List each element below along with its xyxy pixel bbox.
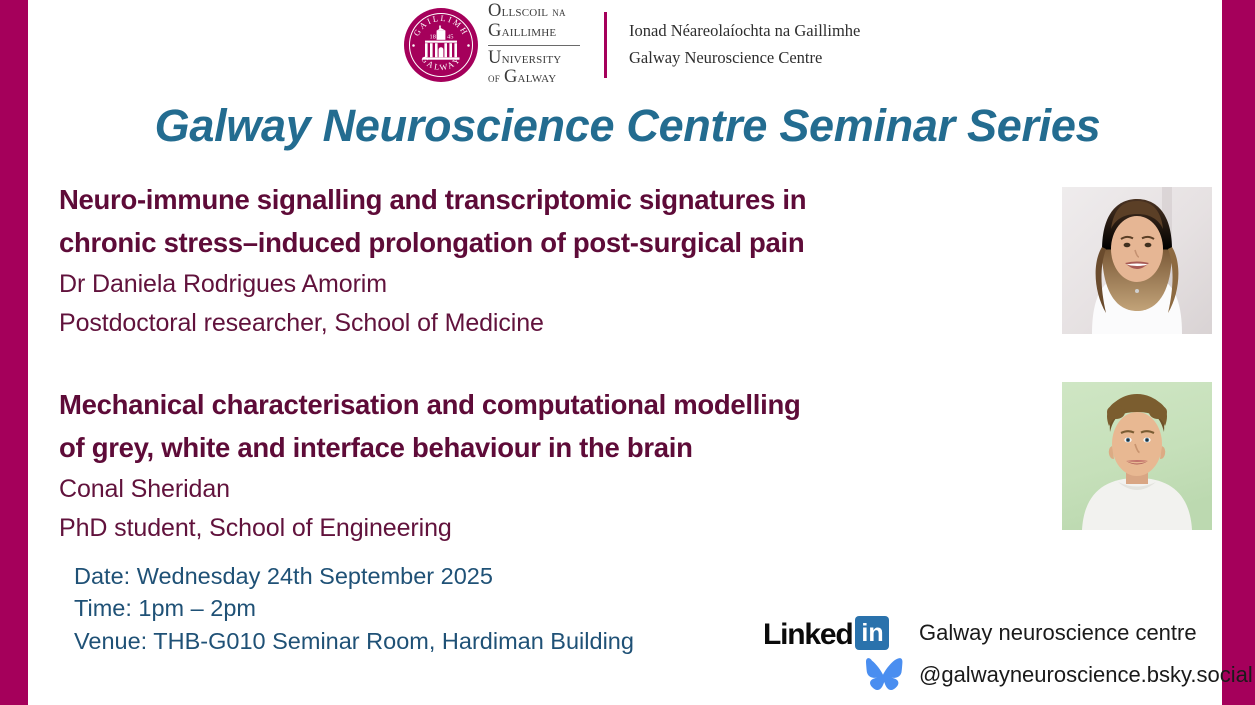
bluesky-row[interactable]: @galwayneuroscience.bsky.social [763, 658, 1253, 692]
centre-name-english: Galway Neuroscience Centre [629, 45, 860, 72]
detail-venue: Venue: THB-G010 Seminar Room, Hardiman B… [74, 625, 634, 657]
talk-2-title-line1: Mechanical characterisation and computat… [59, 383, 969, 426]
social-links: Linked in Galway neuroscience centre @ga… [763, 616, 1253, 692]
linkedin-row[interactable]: Linked in Galway neuroscience centre [763, 616, 1253, 650]
talk-2-role: PhD student, School of Engineering [59, 509, 969, 548]
header: GAILLIMH GALWAY [404, 6, 860, 84]
svg-text:GALWAY: GALWAY [419, 55, 463, 73]
wordmark-divider [488, 45, 580, 46]
centre-name-irish: Ionad Néareolaíochta na Gaillimhe [629, 18, 860, 45]
crest-year-right: 45 [447, 34, 453, 41]
university-of-galway-crest-icon: GAILLIMH GALWAY [404, 8, 478, 82]
seminar-poster: GAILLIMH GALWAY [0, 0, 1255, 705]
header-vertical-divider [604, 12, 607, 78]
speaker-photo-2 [1062, 382, 1212, 530]
university-wordmark: Ollscoil NA Gaillimhe University OF Galw… [488, 2, 580, 89]
detail-time: Time: 1pm – 2pm [74, 592, 634, 624]
university-name-english-line2: OF Galway [488, 68, 580, 88]
centre-names: Ionad Néareolaíochta na Gaillimhe Galway… [629, 18, 860, 71]
talk-entry-1: Neuro-immune signalling and transcriptom… [59, 178, 969, 343]
detail-date: Date: Wednesday 24th September 2025 [74, 560, 634, 592]
university-name-irish-line2: Gaillimhe [488, 22, 580, 42]
university-name-english-line1: University [488, 49, 580, 69]
talk-1-title-line1: Neuro-immune signalling and transcriptom… [59, 178, 969, 221]
talk-entry-2: Mechanical characterisation and computat… [59, 383, 969, 548]
university-name-irish-line1: Ollscoil NA [488, 2, 580, 22]
crest-year-left: 18 [430, 34, 436, 41]
page-title: Galway Neuroscience Centre Seminar Serie… [0, 100, 1255, 152]
talk-2-title-line2: of grey, white and interface behaviour i… [59, 426, 969, 469]
talk-1-title-line2: chronic stress–induced prolongation of p… [59, 221, 969, 264]
speaker-photo-1 [1062, 187, 1212, 334]
linkedin-wordmark: Linked [763, 620, 852, 650]
bluesky-butterfly-icon[interactable] [863, 658, 903, 692]
talk-1-role: Postdoctoral researcher, School of Medic… [59, 304, 969, 343]
bluesky-handle: @galwayneuroscience.bsky.social [919, 662, 1253, 688]
linkedin-icon[interactable]: Linked in [763, 616, 903, 650]
talk-1-speaker: Dr Daniela Rodrigues Amorim [59, 265, 969, 304]
talk-2-speaker: Conal Sheridan [59, 470, 969, 509]
linkedin-handle: Galway neuroscience centre [919, 620, 1197, 646]
event-details: Date: Wednesday 24th September 2025 Time… [74, 560, 634, 657]
linkedin-in-badge: in [855, 616, 889, 650]
